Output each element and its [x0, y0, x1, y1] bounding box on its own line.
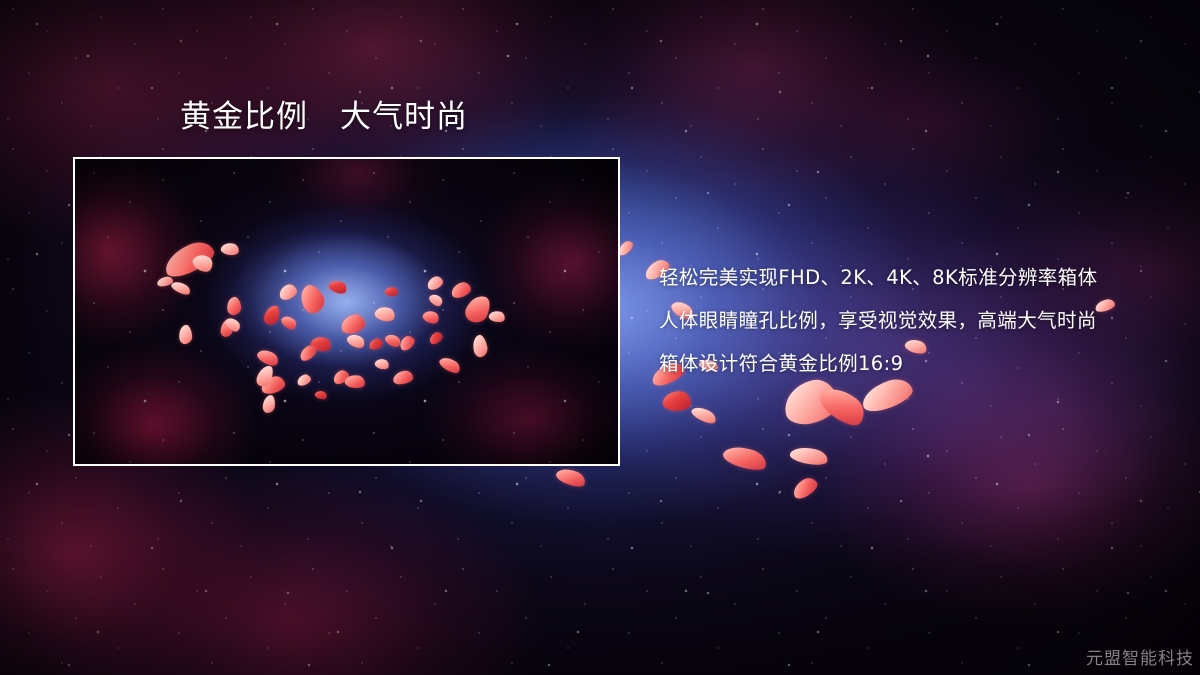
slide-canvas: 黄金比例 大气时尚 轻松完美实现FHD、2K、4K、8K标准分辨率箱体 人体眼睛…	[0, 0, 1200, 675]
watermark-brand: 元盟智能科技	[1086, 644, 1194, 669]
petal	[789, 444, 829, 468]
petal	[815, 380, 870, 432]
petal	[790, 475, 821, 502]
page-title: 黄金比例 大气时尚	[180, 99, 468, 136]
body-copy-block: 轻松完美实现FHD、2K、4K、8K标准分辨率箱体 人体眼睛瞳孔比例，享受视觉效…	[659, 256, 1169, 385]
petal	[721, 442, 769, 475]
petal	[554, 465, 587, 490]
framed-display-panel[interactable]	[73, 157, 620, 466]
petal	[662, 390, 692, 412]
body-line-1: 轻松完美实现FHD、2K、4K、8K标准分辨率箱体	[659, 256, 1169, 299]
body-line-2: 人体眼睛瞳孔比例，享受视觉效果，高端大气时尚	[659, 299, 1169, 342]
petal	[690, 404, 719, 427]
body-line-3: 箱体设计符合黄金比例16:9	[659, 342, 1169, 385]
panel-vignette	[75, 159, 618, 464]
